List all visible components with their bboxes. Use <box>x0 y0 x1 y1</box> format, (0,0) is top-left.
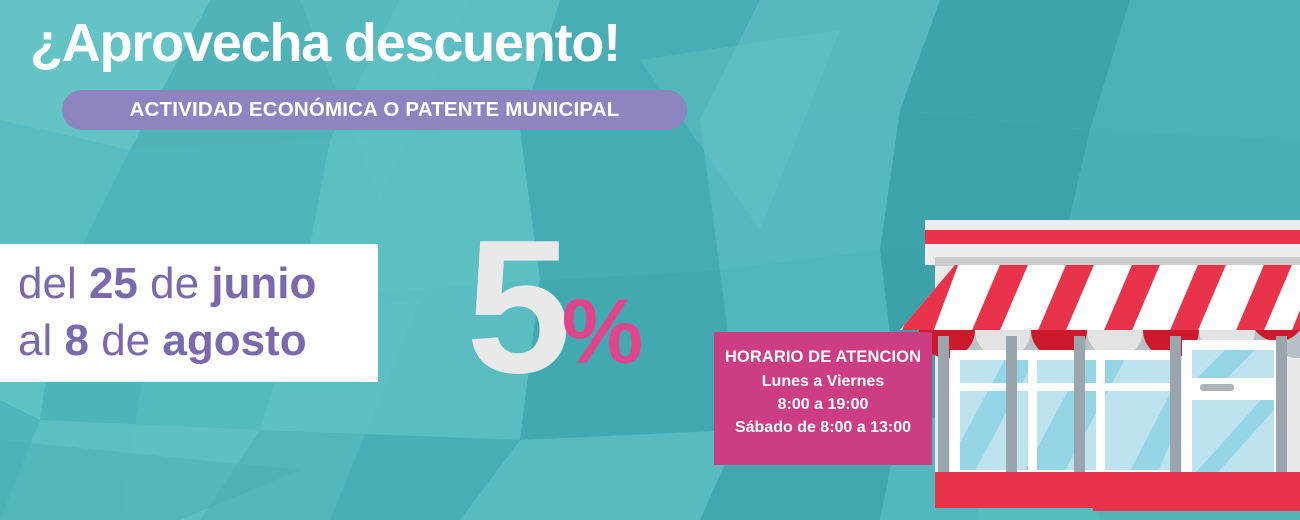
schedule-title: HORARIO DE ATENCION <box>714 346 932 370</box>
discount-figure: 5 % <box>466 228 643 388</box>
date-line2-month: agosto <box>162 316 306 365</box>
subtitle-badge-label: ACTIVIDAD ECONÓMICA O PATENTE MUNICIPAL <box>130 98 620 122</box>
door-handle-icon <box>1200 384 1234 391</box>
date-line-start: del 25 de junio <box>18 256 360 313</box>
date-range-card: del 25 de junio al 8 de agosto <box>0 244 378 382</box>
schedule-row-saturday: Sábado de 8:00 a 13:00 <box>714 416 932 439</box>
schedule-row-weekday-hours: 8:00 a 19:00 <box>714 393 932 416</box>
storefront-illustration <box>880 200 1300 520</box>
schedule-row-weekdays: Lunes a Viernes <box>714 370 932 393</box>
date-line-end: al 8 de agosto <box>18 313 360 370</box>
date-line1-mid: de <box>138 259 211 308</box>
page-title: ¿Aprovecha descuento! <box>30 14 620 72</box>
date-line2-day: 8 <box>64 316 88 365</box>
date-line2-prefix: al <box>18 316 64 365</box>
discount-percent-icon: % <box>562 286 644 378</box>
date-line1-month: junio <box>211 259 316 308</box>
discount-number: 5 <box>466 228 566 388</box>
date-line2-mid: de <box>89 316 162 365</box>
schedule-card: HORARIO DE ATENCION Lunes a Viernes 8:00… <box>714 332 932 465</box>
date-line1-day: 25 <box>89 259 138 308</box>
subtitle-badge: ACTIVIDAD ECONÓMICA O PATENTE MUNICIPAL <box>62 90 687 130</box>
date-line1-prefix: del <box>18 259 89 308</box>
promo-banner: ¿Aprovecha descuento! ACTIVIDAD ECONÓMIC… <box>0 0 1300 520</box>
